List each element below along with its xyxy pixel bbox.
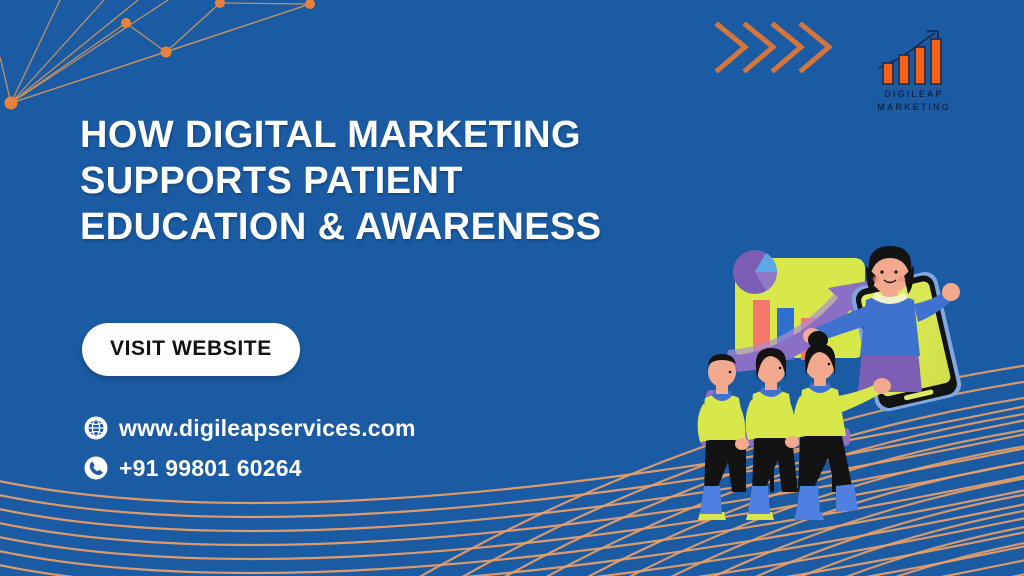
audience-figure-2 [746, 348, 799, 520]
website-text: www.digileapservices.com [119, 415, 416, 442]
contact-info: www.digileapservices.com +91 99801 60264 [84, 411, 416, 491]
globe-icon [84, 416, 108, 440]
visit-website-button[interactable]: VISIT WEBSITE [82, 323, 300, 376]
website-row[interactable]: www.digileapservices.com [84, 411, 416, 445]
audience-figure-1 [698, 354, 749, 520]
phone-text: +91 99801 60264 [119, 455, 302, 482]
headline-line-1: HOW DIGITAL MARKETING [80, 112, 720, 158]
headline-line-2: SUPPORTS PATIENT [80, 158, 720, 204]
logo-text-line-1: DIGILEAP [862, 88, 966, 101]
page-title: HOW DIGITAL MARKETING SUPPORTS PATIENT E… [80, 112, 720, 250]
promotional-banner: HOW DIGITAL MARKETING SUPPORTS PATIENT E… [0, 0, 1024, 576]
bar-chart-growth-icon [873, 26, 955, 88]
phone-icon [84, 456, 108, 480]
headline-line-3: EDUCATION & AWARENESS [80, 204, 720, 250]
logo-text-line-2: MARKETING [862, 101, 966, 114]
phone-row[interactable]: +91 99801 60264 [84, 451, 416, 485]
pie-chart-graphic [733, 250, 777, 294]
brand-logo[interactable]: DIGILEAP MARKETING [862, 26, 966, 114]
